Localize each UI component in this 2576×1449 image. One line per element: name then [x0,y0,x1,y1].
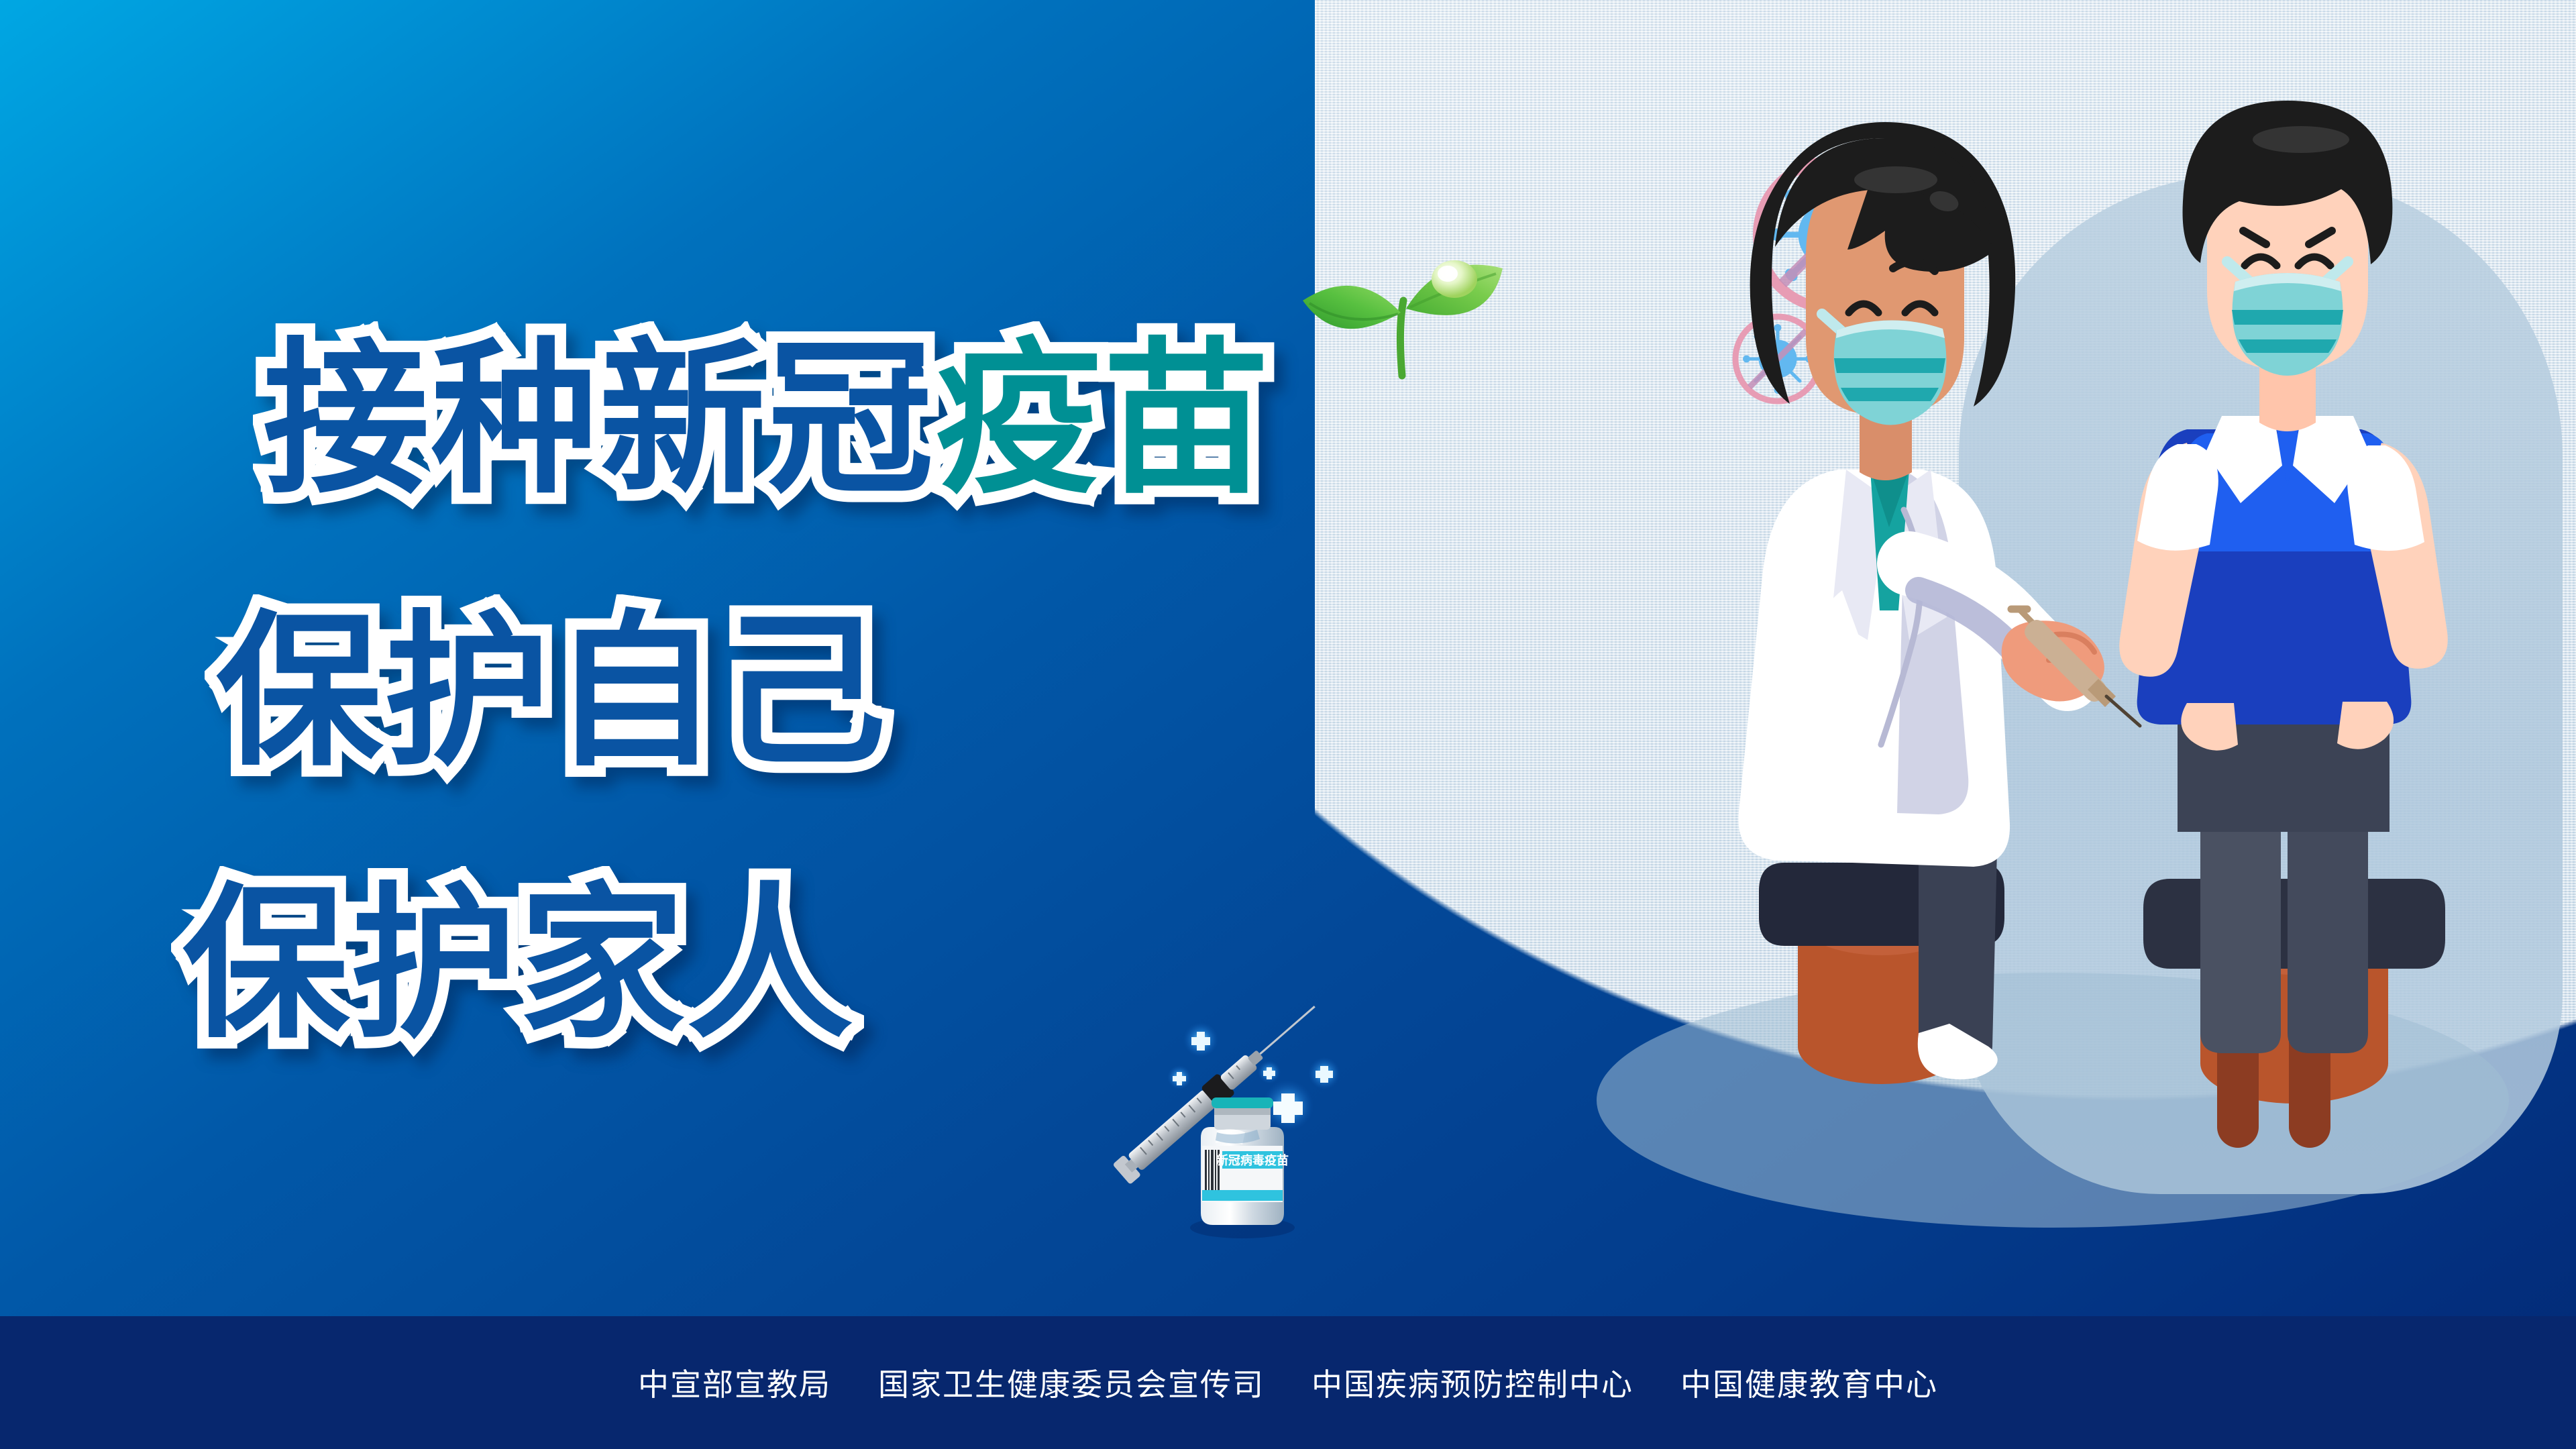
headline-line-3: 保护家人 [182,829,855,1070]
patient-figure [2119,101,2448,1148]
headline-line-2: 保护自己 [216,557,888,798]
headline-line-3-text: 保护家人 [182,868,855,1061]
footer-organizations: 中宣部宣教局 国家卫生健康委员会宣传司 中国疾病预防控制中心 中国健康教育中心 [638,1360,1938,1405]
footer-org-1: 国家卫生健康委员会宣传司 [878,1360,1265,1405]
sprout-icon [1295,221,1509,389]
footer-org-2: 中国疾病预防控制中心 [1311,1360,1633,1405]
headline-line-2-text: 保护自己 [216,596,888,789]
headline-line-1-teal: 疫苗 [935,323,1271,517]
headline-line-1-blue: 接种新冠 [263,323,935,517]
footer-org-0: 中宣部宣教局 [638,1360,831,1405]
footer-bar: 中宣部宣教局 国家卫生健康委员会宣传司 中国疾病预防控制中心 中国健康教育中心 [0,1316,2576,1449]
vial-label-text: 新冠病毒疫苗 [1216,1153,1289,1168]
vaccination-illustration [1315,0,2576,1342]
footer-org-3: 中国健康教育中心 [1680,1360,1938,1405]
vaccine-vial-group: 新冠病毒疫苗 [1073,959,1382,1268]
doctor-figure [1738,122,2140,1084]
vaccination-poster: 新冠病毒疫苗 接种新冠疫苗 保护自己 保护家人 [0,0,2576,1449]
headline-line-1: 接种新冠疫苗 [263,284,1271,525]
